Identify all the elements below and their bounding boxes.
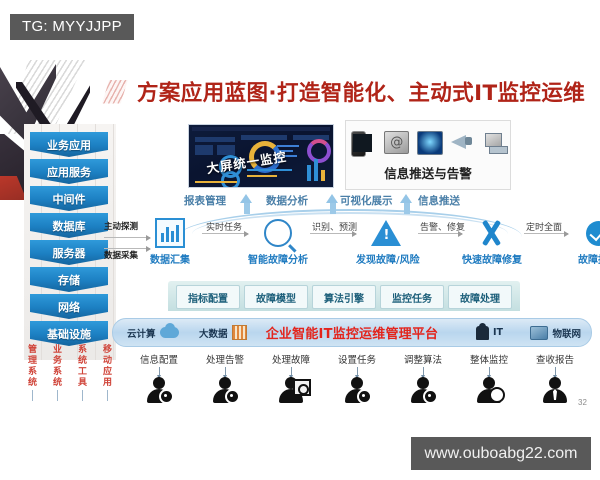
down-arrow-icon	[555, 367, 556, 376]
up-arrow-icon	[400, 194, 413, 214]
flow-node-fault-report[interactable]: 故障报告	[568, 218, 600, 266]
capability-tag-row: 指标配置 故障模型 算法引擎 监控任务 故障处理	[176, 285, 512, 307]
stack-column-business-system: 业务系统	[49, 345, 66, 401]
page-number: 32	[578, 398, 587, 407]
page-title-text: 方案应用蓝图·打造智能化、主动式IT监控运维	[137, 76, 585, 107]
platform-item-label: 物联网	[552, 326, 581, 340]
role-handle-alarm[interactable]: 处理告警	[194, 352, 256, 403]
role-set-task[interactable]: 设置任务	[326, 352, 388, 403]
column-tick	[32, 390, 33, 401]
alert-push-panel: @ 信息推送与告警	[345, 120, 511, 190]
platform-item-label: IT	[493, 327, 503, 338]
stack-column-label: 业务系统	[49, 345, 66, 389]
role-receive-report[interactable]: 查收报告	[524, 352, 586, 403]
role-people-row: 信息配置 处理告警 处理故障 设置任务 调整算法 整体监控	[128, 352, 580, 404]
flow-link-label-identify: 识别、预测	[312, 220, 357, 233]
person-icon	[541, 377, 569, 403]
person-screen-icon	[277, 377, 305, 403]
dashboard-progress	[195, 181, 237, 183]
person-gear-icon	[145, 377, 173, 403]
role-handle-fault[interactable]: 处理故障	[260, 352, 322, 403]
role-label: 调整算法	[392, 352, 454, 366]
horn-icon	[450, 131, 472, 156]
wrench-icon	[462, 218, 522, 248]
stack-column-mobile-app: 移动应用	[99, 345, 116, 401]
platform-item-it: IT	[476, 326, 503, 340]
role-label: 处理告警	[194, 352, 256, 366]
slide-canvas: TG: MYYJJPP 方案应用蓝图·打造智能化、主动式IT监控运维 业务应用 …	[0, 0, 600, 480]
flow-link	[524, 233, 568, 234]
flow-link	[418, 233, 462, 234]
visualization-arc-row: 报表管理 数据分析 可视化展示 信息推送	[178, 192, 522, 220]
role-label: 信息配置	[128, 352, 190, 366]
dashboard-topbar	[192, 127, 330, 131]
flow-node-intelligent-fault-analysis[interactable]: 智能故障分析	[248, 218, 308, 266]
flow-node-data-aggregation[interactable]: 数据汇集	[140, 218, 200, 266]
screen-icon	[417, 131, 439, 156]
role-label: 处理故障	[260, 352, 322, 366]
down-arrow-icon	[423, 367, 424, 376]
flow-node-discover-fault-risk[interactable]: ! 发现故障/风险	[356, 218, 416, 266]
it-person-icon	[476, 326, 489, 340]
stack-column-label: 管理系统	[24, 345, 41, 389]
role-label: 设置任务	[326, 352, 388, 366]
platform-item-iot: 物联网	[530, 326, 581, 340]
up-arrow-icon	[240, 194, 253, 214]
person-gear-icon	[343, 377, 371, 403]
process-flow: 数据汇集 实时任务 智能故障分析 识别、预测 ! 发现故障/风险 告警、修复 快…	[112, 218, 590, 274]
arc-label-visualization[interactable]: 可视化展示	[340, 193, 393, 208]
down-arrow-icon	[291, 367, 292, 376]
stack-column-labels: 管理系统 业务系统 系统工具 移动应用	[24, 345, 116, 401]
down-arrow-icon	[357, 367, 358, 376]
flow-node-fast-fault-repair[interactable]: 快速故障修复	[462, 218, 522, 266]
check-circle-icon	[568, 218, 600, 248]
dashboard-panel	[195, 137, 235, 142]
flow-link-label-scheduled: 定时全面	[526, 220, 562, 233]
tag-fault-model[interactable]: 故障模型	[244, 285, 308, 309]
tag-monitor-task[interactable]: 监控任务	[380, 285, 444, 309]
flow-link	[310, 233, 356, 234]
bar-chart-icon	[140, 218, 200, 248]
mail-icon: @	[384, 131, 406, 156]
phone-icon	[351, 131, 373, 156]
role-info-config[interactable]: 信息配置	[128, 352, 190, 403]
flow-node-label: 快速故障修复	[462, 251, 522, 266]
infrastructure-stack: 业务应用 应用服务 中间件 数据库 服务器 存储 网络 基础设施	[30, 132, 108, 348]
arc-label-analysis[interactable]: 数据分析	[266, 193, 308, 208]
dashboard-bar	[307, 165, 311, 181]
iot-icon	[530, 326, 548, 340]
title-slash-icon	[102, 80, 128, 104]
column-tick	[107, 390, 108, 401]
flow-link	[202, 233, 248, 234]
stack-column-label: 移动应用	[99, 345, 116, 389]
dashboard-progress	[247, 175, 277, 177]
tg-watermark-tag: TG: MYYJJPP	[10, 14, 134, 40]
platform-bar: 云计算 大数据 企业智能IT监控运维管理平台 IT 物联网	[112, 318, 592, 347]
down-arrow-icon	[225, 367, 226, 376]
flow-link-label-alarm: 告警、修复	[420, 220, 465, 233]
alert-device-icons: @	[346, 128, 510, 156]
stack-column-management-system: 管理系统	[24, 345, 41, 401]
flow-node-label: 数据汇集	[140, 251, 200, 266]
warning-triangle-icon: !	[356, 218, 416, 248]
magnifier-icon	[248, 218, 308, 248]
down-arrow-icon	[489, 367, 490, 376]
down-arrow-icon	[159, 367, 160, 376]
stack-column-system-tools: 系统工具	[74, 345, 91, 401]
person-magnifier-icon	[475, 377, 503, 403]
flow-link-label-realtime: 实时任务	[206, 220, 242, 233]
tag-metric-config[interactable]: 指标配置	[176, 285, 240, 309]
role-label: 整体监控	[458, 352, 520, 366]
dashboard-panel	[195, 145, 213, 155]
arc-label-push[interactable]: 信息推送	[418, 193, 460, 208]
up-arrow-icon	[326, 194, 339, 214]
stack-column-label: 系统工具	[74, 345, 91, 389]
site-watermark: www.ouboabg22.com	[411, 437, 591, 470]
flow-node-label: 故障报告	[568, 251, 600, 266]
dashboard-panel	[241, 135, 287, 140]
platform-title: 企业智能IT监控运维管理平台	[113, 323, 591, 342]
dashboard-bar	[321, 170, 325, 181]
column-tick	[82, 390, 83, 401]
page-title: 方案应用蓝图·打造智能化、主动式IT监控运维	[102, 76, 585, 107]
pc-icon	[483, 131, 505, 156]
flow-node-label: 发现故障/风险	[356, 251, 416, 266]
column-tick	[57, 390, 58, 401]
dashboard-pie-chart	[307, 139, 331, 163]
flow-node-label: 智能故障分析	[248, 251, 308, 266]
dashboard-bar	[314, 159, 318, 181]
role-adjust-algorithm[interactable]: 调整算法	[392, 352, 454, 403]
arc-label-report[interactable]: 报表管理	[184, 193, 226, 208]
role-label: 查收报告	[524, 352, 586, 366]
alert-push-caption: 信息推送与告警	[346, 163, 510, 182]
role-overall-monitor[interactable]: 整体监控	[458, 352, 520, 403]
person-gear-icon	[211, 377, 239, 403]
person-gear-icon	[409, 377, 437, 403]
tag-algorithm-engine[interactable]: 算法引擎	[312, 285, 376, 309]
tag-fault-handling[interactable]: 故障处理	[448, 285, 512, 309]
